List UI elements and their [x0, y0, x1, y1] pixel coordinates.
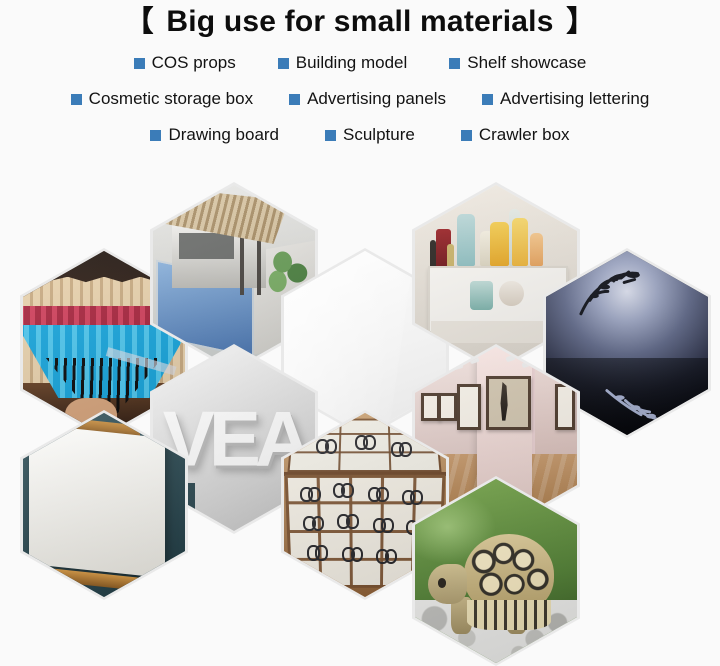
header: 【 Big use for small materials 】 COS prop… — [0, 0, 720, 148]
feature-label: Building model — [296, 50, 408, 76]
feature-label: Advertising lettering — [500, 86, 649, 112]
bullet-square-icon — [325, 130, 336, 141]
page-title-text: Big use for small materials — [166, 5, 553, 38]
feature-row-1: COS props Building model Shelf showcase — [0, 50, 720, 76]
feature-item-crawler-box: Crawler box — [461, 122, 570, 148]
bullet-square-icon — [134, 58, 145, 69]
feature-item-building-model: Building model — [278, 50, 408, 76]
tree-branch-icon — [575, 269, 650, 317]
bullet-square-icon — [150, 130, 161, 141]
feature-row-3: Drawing board Sculpture Crawler box — [0, 122, 720, 148]
bullet-square-icon — [289, 94, 300, 105]
feature-label: Drawing board — [168, 122, 279, 148]
page-title: 【 Big use for small materials 】 — [0, 2, 720, 42]
feature-item-shelf-showcase: Shelf showcase — [449, 50, 586, 76]
feature-label: Cosmetic storage box — [89, 86, 253, 112]
feature-item-advertising-panels: Advertising panels — [289, 86, 446, 112]
feature-list: COS props Building model Shelf showcase … — [0, 50, 720, 148]
bracket-open-icon: 【 — [125, 6, 154, 38]
feature-label: Sculpture — [343, 122, 415, 148]
bullet-square-icon — [71, 94, 82, 105]
feature-label: Advertising panels — [307, 86, 446, 112]
feature-label: Crawler box — [479, 122, 570, 148]
bullet-square-icon — [482, 94, 493, 105]
tree-branch-reflection-icon — [604, 387, 675, 431]
feature-row-2: Cosmetic storage box Advertising panels … — [0, 86, 720, 112]
bullet-square-icon — [449, 58, 460, 69]
promo-graphic: 【 Big use for small materials 】 COS prop… — [0, 0, 720, 650]
feature-item-cos-props: COS props — [134, 50, 236, 76]
feature-label: COS props — [152, 50, 236, 76]
bullet-square-icon — [461, 130, 472, 141]
feature-item-cosmetic-storage-box: Cosmetic storage box — [71, 86, 253, 112]
feature-label: Shelf showcase — [467, 50, 586, 76]
bracket-close-icon: 】 — [566, 6, 595, 38]
honeycomb-gallery: VEA — [0, 168, 720, 650]
feature-item-advertising-lettering: Advertising lettering — [482, 86, 649, 112]
bullet-square-icon — [278, 58, 289, 69]
feature-item-drawing-board: Drawing board — [150, 122, 279, 148]
feature-item-sculpture: Sculpture — [325, 122, 415, 148]
